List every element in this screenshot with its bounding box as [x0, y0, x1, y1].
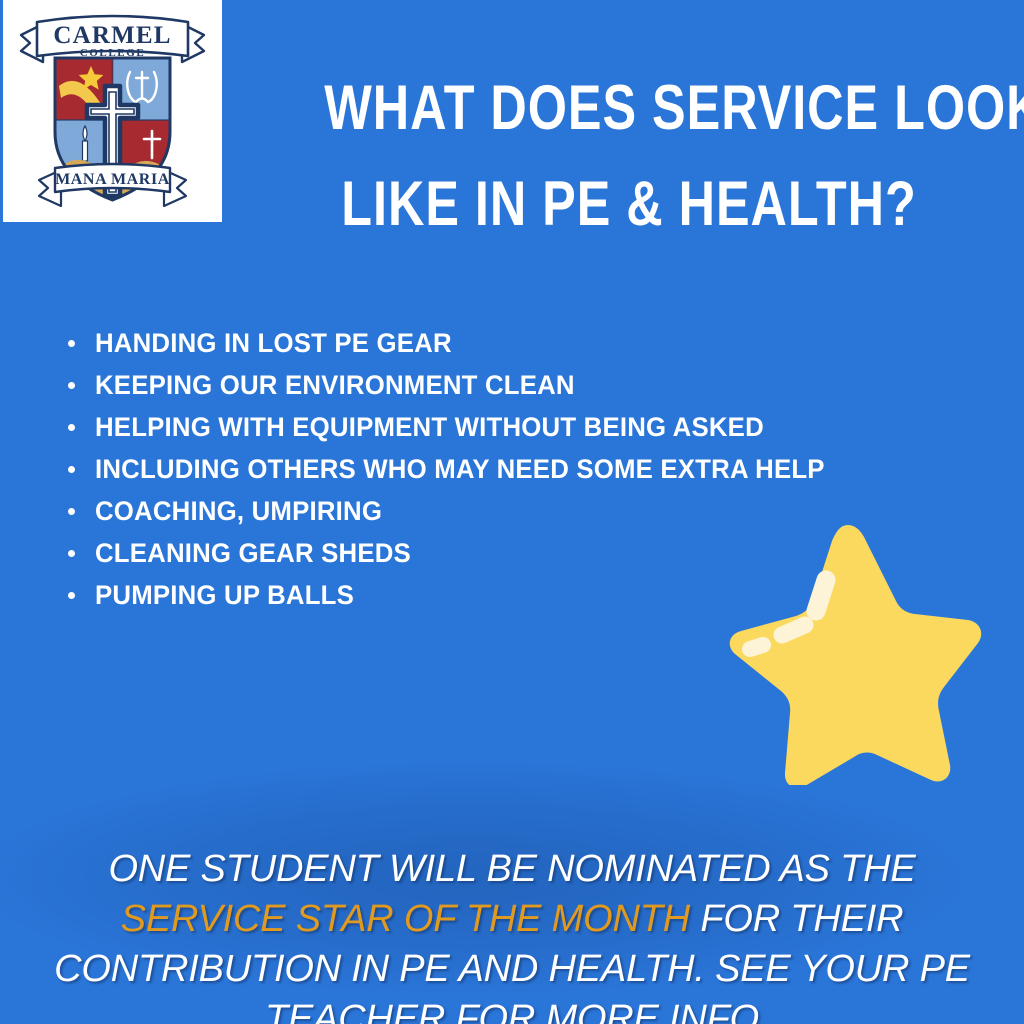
- footer-note: ONE STUDENT WILL BE NOMINATED AS THE SER…: [28, 844, 996, 1024]
- list-item-label: HELPING WITH EQUIPMENT WITHOUT BEING ASK…: [95, 406, 764, 448]
- bullet-dot-icon: [68, 424, 75, 431]
- title-line-2: LIKE IN PE & HEALTH?: [324, 156, 934, 252]
- list-item: INCLUDING OTHERS WHO MAY NEED SOME EXTRA…: [63, 448, 973, 490]
- list-item-label: PUMPING UP BALLS: [95, 574, 354, 616]
- crest-icon: CARMEL COLLEGE: [3, 0, 222, 222]
- list-item-label: CLEANING GEAR SHEDS: [95, 532, 411, 574]
- list-item: KEEPING OUR ENVIRONMENT CLEAN: [63, 364, 973, 406]
- crest-banner-bottom: MANA MARIA: [55, 171, 170, 188]
- star-icon: [700, 515, 990, 785]
- crest-banner-top: CARMEL: [53, 22, 171, 49]
- footer-part-1: ONE STUDENT WILL BE NOMINATED AS THE: [108, 848, 915, 890]
- list-item: HELPING WITH EQUIPMENT WITHOUT BEING ASK…: [63, 406, 973, 448]
- bullet-dot-icon: [68, 466, 75, 473]
- list-item-label: HANDING IN LOST PE GEAR: [95, 322, 452, 364]
- bullet-dot-icon: [68, 340, 75, 347]
- list-item: HANDING IN LOST PE GEAR: [63, 322, 973, 364]
- page-title: WHAT DOES SERVICE LOOK LIKE IN PE & HEAL…: [324, 60, 934, 252]
- title-line-1: WHAT DOES SERVICE LOOK: [324, 60, 934, 156]
- bullet-dot-icon: [68, 550, 75, 557]
- list-item-label: INCLUDING OTHERS WHO MAY NEED SOME EXTRA…: [95, 448, 825, 490]
- carmel-college-logo-tile: CARMEL COLLEGE: [3, 0, 222, 222]
- poster-canvas: CARMEL COLLEGE: [0, 0, 1024, 1024]
- list-item-label: KEEPING OUR ENVIRONMENT CLEAN: [95, 364, 575, 406]
- list-item-label: COACHING, UMPIRING: [95, 490, 382, 532]
- bullet-dot-icon: [68, 508, 75, 515]
- bullet-dot-icon: [68, 592, 75, 599]
- bullet-dot-icon: [68, 382, 75, 389]
- footer-highlight: SERVICE STAR OF THE MONTH: [121, 898, 690, 940]
